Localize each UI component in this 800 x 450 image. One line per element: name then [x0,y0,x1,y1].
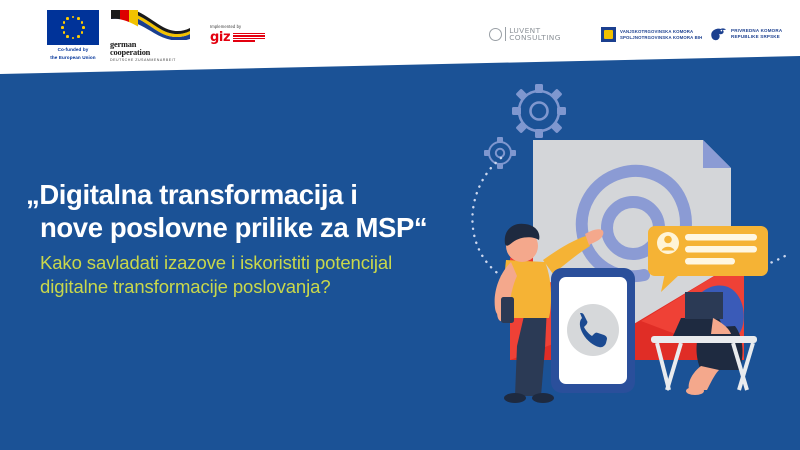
eu-star-icon [77,17,80,20]
luvent-consulting-logo: LUVENT CONSULTING [489,27,561,41]
eu-star-icon [66,35,69,38]
eu-star-icon [77,35,80,38]
privredna-komora-rs-logo: PRIVREDNA KOMORA REPUBLIKE SRPSKE [710,26,782,42]
large-gear-icon [512,84,566,138]
luvent-divider-icon [505,27,506,41]
giz-implemented-by-label: Implemented by [210,24,265,29]
eu-star-icon [63,21,66,24]
german-bih-flag-ribbon-icon [110,10,192,40]
smartphone-phone-call-icon [551,268,635,393]
eu-star-icon [61,26,64,29]
page-title-line2: nove poslovne prilike za MSP“ [26,211,496,244]
giz-logo: Implemented by giz [210,24,265,43]
eu-flag-logo: Co-funded by the European Union [44,10,102,60]
eu-star-icon [66,17,69,20]
poster-canvas: „Digitalna transformacija i nove poslovn… [0,0,800,450]
page-subtitle-line1: Kako savladati izazove i iskoristiti pot… [40,252,392,273]
giz-wordmark-text: giz [210,32,230,43]
page-title: „Digitalna transformacija i nove poslovn… [26,178,496,244]
eu-star-icon [72,16,75,19]
logo-row: Co-funded by the European Union german c… [0,0,800,58]
eu-caption-line1: Co-funded by [44,47,102,53]
eu-star-icon [63,31,66,34]
chamber-line1: VANJSKOTRGOVINSKA KOMORA [620,29,702,35]
eagle-icon [710,26,727,42]
page-title-line1: „Digitalna transformacija i [26,179,358,210]
eu-flag-icon [47,10,99,45]
small-gear-icon [484,137,516,169]
foreign-trade-chamber-logo: VANJSKOTRGOVINSKA KOMORA SPOLJNOTRGOVINS… [601,27,702,42]
eu-star-icon [81,31,84,34]
giz-wordmark-icon: giz [210,32,265,43]
chamber-square-icon [601,27,616,42]
giz-rule-lines [233,33,265,43]
german-cooperation-line2: cooperation [110,49,192,57]
german-cooperation-logo: german cooperation DEUTSCHE ZUSAMMENARBE… [110,10,192,63]
eu-star-icon [81,21,84,24]
chamber-line2: SPOLJNOTRGOVINSKA KOMORA BIH [620,35,702,41]
page-subtitle: Kako savladati izazove i iskoristiti pot… [26,251,496,299]
hero-text-block: „Digitalna transformacija i nove poslovn… [26,178,496,299]
german-cooperation-line3: DEUTSCHE ZUSAMMENARBEIT [110,58,192,63]
eu-caption-line2: the European Union [44,55,102,61]
page-subtitle-line2: digitalne transformacije poslovanja? [40,275,496,299]
digital-communication-illustration [455,78,800,408]
pkrs-line2: REPUBLIKE SRPSKE [731,34,782,40]
eu-star-icon [82,26,85,29]
luvent-ring-icon [489,28,502,41]
luvent-line2: CONSULTING [509,34,561,41]
eu-star-icon [72,37,75,40]
